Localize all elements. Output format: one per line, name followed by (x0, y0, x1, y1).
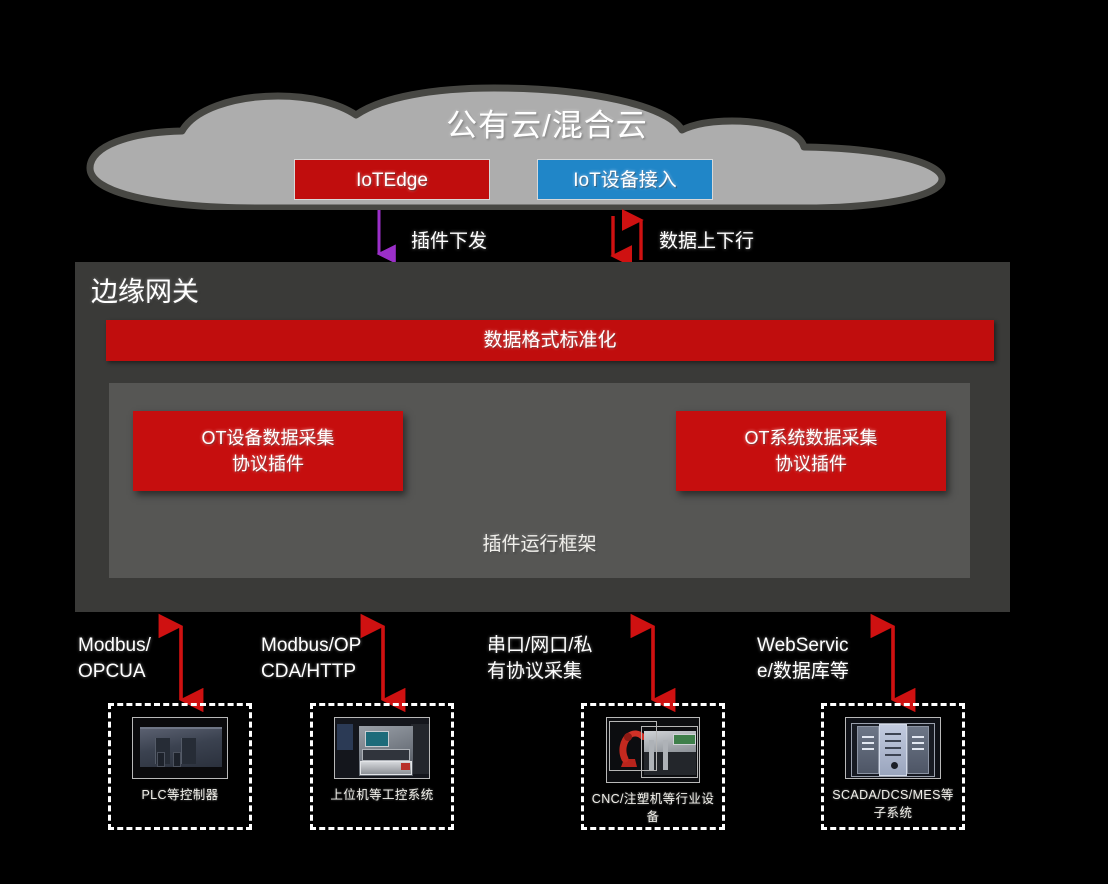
protocol-0-line1: Modbus/ (78, 633, 208, 659)
plc-controller-photo (132, 717, 228, 779)
device-caption-hmi: 上位机等工控系统 (328, 786, 435, 804)
server-rack-photo (845, 717, 941, 779)
protocol-label-2: 串口/网口/私 有协议采集 (487, 633, 617, 684)
device-caption-scada: SCADA/DCS/MES等子系统 (824, 786, 962, 822)
device-box-plc[interactable]: PLC等控制器 (108, 703, 252, 830)
diagram-canvas: 公有云/混合云 IoTEdge IoT设备接入 插件下发 (0, 0, 1108, 884)
data-format-standardization-bar[interactable]: 数据格式标准化 (106, 320, 994, 361)
plugin-runtime-framework-panel: OT设备数据采集 协议插件 OT系统数据采集 协议插件 插件运行框架 (109, 383, 970, 578)
label-data-uplink-downlink: 数据上下行 (659, 226, 754, 253)
cloud-to-gateway-arrows: 插件下发 数据上下行 (0, 206, 1108, 268)
ot-system-plugin-line2: 协议插件 (775, 451, 847, 477)
cnc-robot-photo (606, 717, 700, 783)
chip-iot-device-access[interactable]: IoT设备接入 (537, 159, 713, 200)
chip-iotedge[interactable]: IoTEdge (294, 159, 490, 200)
data-format-standardization-label: 数据格式标准化 (106, 320, 994, 361)
ot-system-collection-plugin[interactable]: OT系统数据采集 协议插件 (676, 411, 946, 491)
ot-device-collection-plugin[interactable]: OT设备数据采集 协议插件 (133, 411, 403, 491)
ot-system-plugin-line1: OT系统数据采集 (745, 425, 878, 451)
edge-gateway-panel: 边缘网关 数据格式标准化 OT设备数据采集 协议插件 OT系统数据采集 协议插件… (75, 262, 1010, 612)
protocol-1-line2: CDA/HTTP (261, 659, 391, 685)
protocol-label-0: Modbus/ OPCUA (78, 633, 208, 684)
device-box-hmi[interactable]: 上位机等工控系统 (310, 703, 454, 830)
protocol-3-line2: e/数据库等 (757, 659, 887, 685)
protocol-0-line2: OPCUA (78, 659, 208, 685)
device-caption-plc: PLC等控制器 (139, 786, 220, 804)
mid-arrow-glyphs (0, 206, 1108, 268)
protocol-2-line1: 串口/网口/私 (487, 633, 617, 659)
plugin-runtime-framework-label: 插件运行框架 (109, 529, 970, 556)
device-box-scada[interactable]: SCADA/DCS/MES等子系统 (821, 703, 965, 830)
label-plugin-dispatch: 插件下发 (411, 226, 487, 253)
hmi-industrial-pc-photo (334, 717, 430, 779)
ot-device-plugin-line1: OT设备数据采集 (202, 425, 335, 451)
edge-gateway-title: 边缘网关 (91, 270, 199, 309)
protocol-label-3: WebServic e/数据库等 (757, 633, 887, 684)
ot-device-plugin-line2: 协议插件 (232, 451, 304, 477)
device-box-cnc[interactable]: CNC/注塑机等行业设备 (581, 703, 725, 830)
protocol-3-line1: WebServic (757, 633, 887, 659)
protocol-2-line2: 有协议采集 (487, 659, 617, 685)
device-caption-cnc: CNC/注塑机等行业设备 (584, 790, 722, 826)
protocol-1-line1: Modbus/OP (261, 633, 391, 659)
protocol-label-1: Modbus/OP CDA/HTTP (261, 633, 391, 684)
